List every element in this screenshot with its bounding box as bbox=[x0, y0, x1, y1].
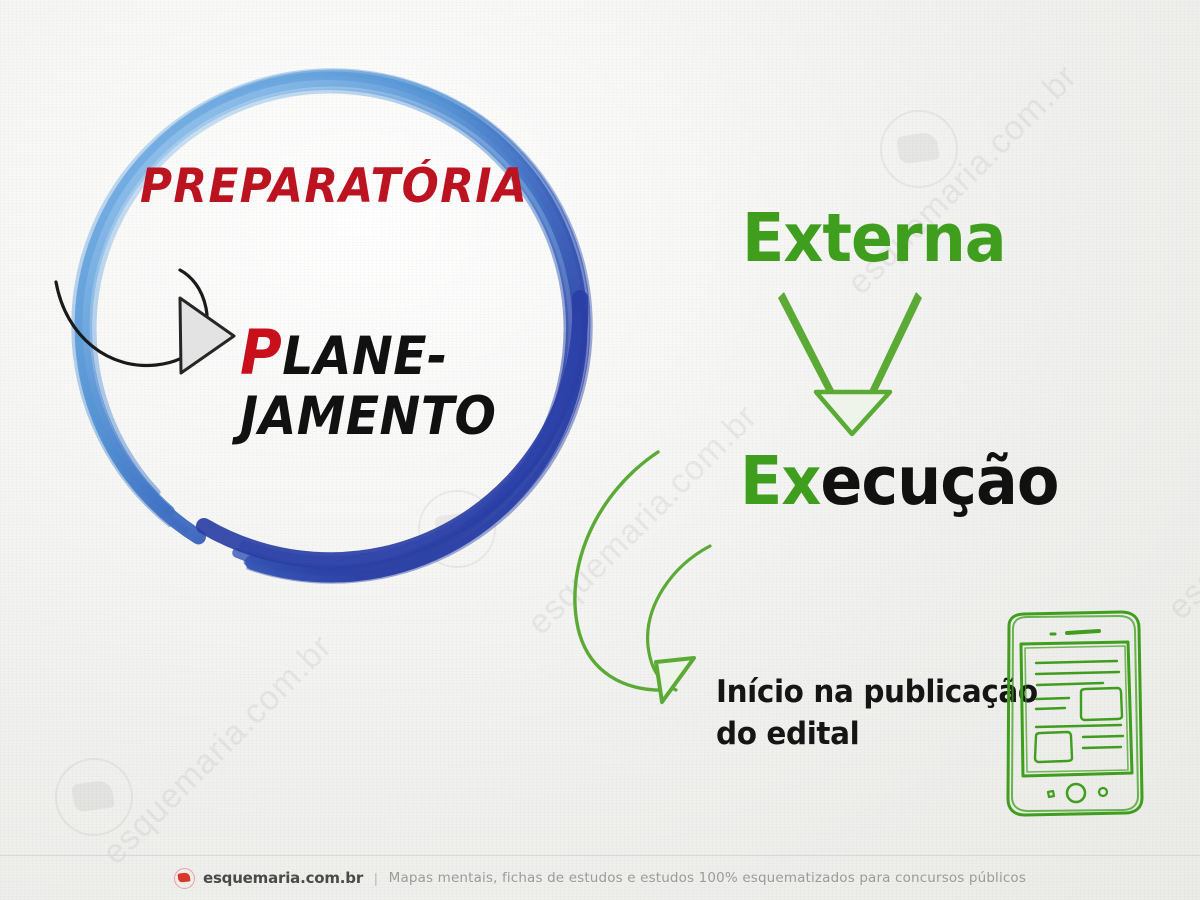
footer-bar: esquemaria.com.br | Mapas mentais, ficha… bbox=[0, 856, 1200, 900]
smartphone-sketch bbox=[995, 606, 1160, 821]
stage-label-highlight: P bbox=[240, 316, 282, 389]
green-curved-arrow bbox=[540, 440, 740, 720]
note-inicio-edital: Início na publicaçãodo edital bbox=[716, 672, 1038, 756]
phase-label-preparatoria: PREPARATÓRIA bbox=[140, 163, 528, 210]
watermark-text: esquemaria.com.br bbox=[1160, 382, 1200, 627]
stage-label-planejamento: PLANE-JAMENTO bbox=[240, 318, 496, 447]
label-execucao: Execução bbox=[740, 448, 1058, 515]
label-externa: Externa bbox=[742, 205, 1006, 272]
label-execucao-rest: ecução bbox=[820, 442, 1058, 521]
footer-brand-label: esquemaria.com.br bbox=[203, 869, 363, 887]
stage-label-line1: LANE- bbox=[282, 326, 447, 387]
note-line-2: do edital bbox=[716, 716, 859, 752]
footer-separator: | bbox=[371, 870, 381, 886]
infographic-canvas: esquemaria.com.br esquemaria.com.br esqu… bbox=[0, 0, 1200, 900]
watermark-text: esquemaria.com.br bbox=[95, 627, 340, 872]
watermark-logo-icon bbox=[880, 110, 958, 188]
stage-label-line2: JAMENTO bbox=[240, 386, 496, 447]
green-down-arrow bbox=[772, 288, 932, 438]
esquemaria-logo-icon bbox=[174, 868, 195, 889]
label-execucao-highlight: Ex bbox=[740, 442, 820, 521]
footer-tagline: Mapas mentais, fichas de estudos e estud… bbox=[389, 870, 1026, 886]
note-line-1: Início na publicação bbox=[716, 674, 1038, 710]
watermark-logo-icon bbox=[55, 758, 133, 836]
